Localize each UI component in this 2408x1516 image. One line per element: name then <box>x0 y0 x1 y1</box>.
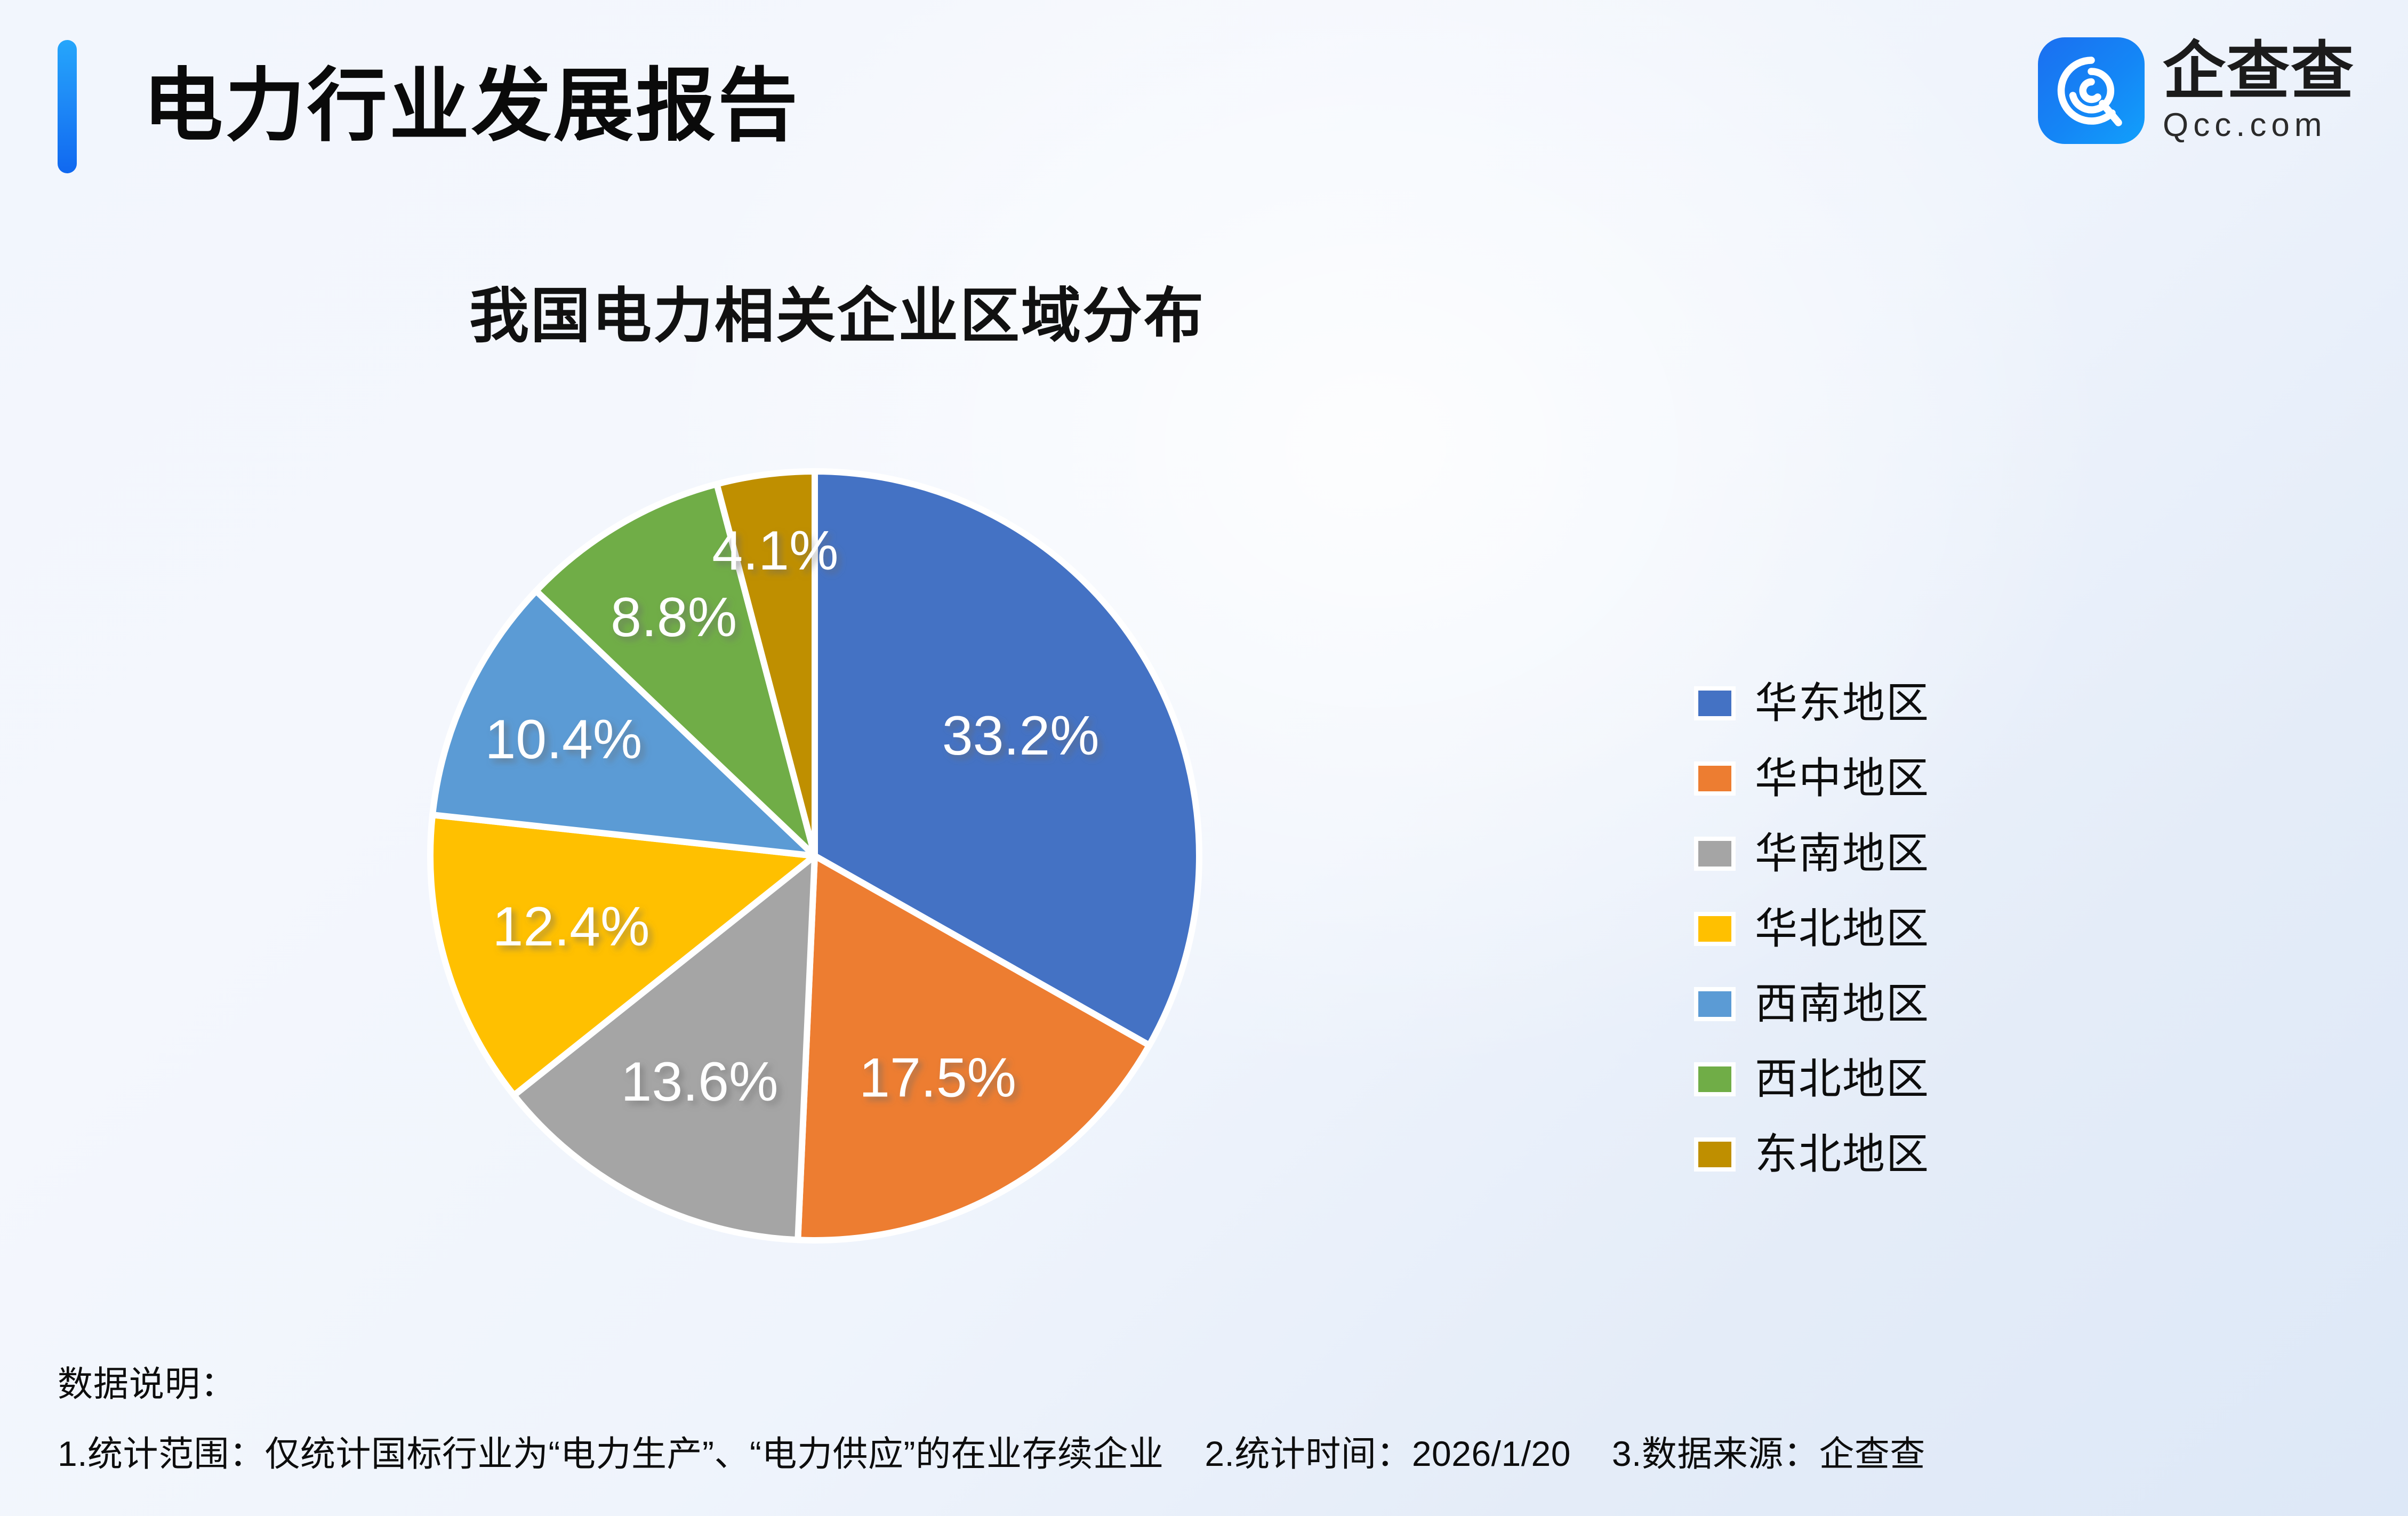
pie-slices <box>430 471 1199 1240</box>
note-item-1: 1.统计范围：仅统计国标行业为“电力生产”、“电力供应”的在业存续企业 <box>58 1434 1163 1473</box>
pie-slice-label: 12.4% <box>493 896 650 958</box>
title-accent-bar <box>58 40 77 173</box>
note-item-3: 3.数据来源：企查查 <box>1612 1434 1925 1473</box>
legend-item[interactable]: 华南地区 <box>1698 816 1930 891</box>
pie-slice-label: 33.2% <box>942 705 1099 767</box>
legend-label: 东北地区 <box>1755 1131 1930 1178</box>
chart-legend: 华东地区华中地区华南地区华北地区西南地区西北地区东北地区 <box>1698 665 1930 1192</box>
pie-slice-label: 17.5% <box>859 1047 1016 1109</box>
legend-label: 华北地区 <box>1755 905 1930 952</box>
legend-item[interactable]: 华北地区 <box>1698 891 1930 966</box>
legend-item[interactable]: 西南地区 <box>1698 966 1930 1041</box>
page-title: 电力行业发展报告 <box>143 47 800 164</box>
legend-swatch-icon <box>1698 841 1731 867</box>
note-item-2: 2.统计时间：2026/1/20 <box>1205 1434 1571 1473</box>
notes-line: 1.统计范围：仅统计国标行业为“电力生产”、“电力供应”的在业存续企业 2.统计… <box>58 1432 2350 1475</box>
legend-swatch-icon <box>1698 766 1731 791</box>
legend-swatch-icon <box>1698 991 1731 1017</box>
legend-label: 西北地区 <box>1755 1056 1930 1103</box>
pie-slice-label: 13.6% <box>621 1051 778 1113</box>
pie-slice-label: 10.4% <box>485 709 642 771</box>
legend-swatch-icon <box>1698 1066 1731 1092</box>
notes-heading: 数据说明： <box>58 1363 2350 1405</box>
legend-label: 华东地区 <box>1755 680 1930 727</box>
pie-chart: 33.2%17.5%13.6%12.4%10.4%8.8%4.1% <box>424 465 1206 1247</box>
pie-slice-label: 8.8% <box>611 587 737 648</box>
legend-label: 西南地区 <box>1755 981 1930 1028</box>
legend-item[interactable]: 华东地区 <box>1698 665 1930 741</box>
pie-slice-label: 4.1% <box>712 520 838 582</box>
report-page: 电力行业发展报告 企查查 Qcc.com 我国电力相关企业区域分布 <box>0 0 2408 1516</box>
brand-domain: Qcc.com <box>2163 107 2355 144</box>
legend-item[interactable]: 华中地区 <box>1698 741 1930 816</box>
qcc-q-spiral-logo-icon <box>2038 37 2145 144</box>
legend-swatch-icon <box>1698 691 1731 716</box>
brand-logo: 企查查 Qcc.com <box>2038 37 2355 144</box>
legend-label: 华南地区 <box>1755 830 1930 877</box>
legend-item[interactable]: 西北地区 <box>1698 1041 1930 1117</box>
pie-chart-svg: 33.2%17.5%13.6%12.4%10.4%8.8%4.1% <box>424 465 1206 1247</box>
legend-label: 华中地区 <box>1755 755 1930 802</box>
page-header: 电力行业发展报告 企查查 Qcc.com <box>0 0 2408 213</box>
brand-text: 企查查 Qcc.com <box>2163 37 2355 144</box>
brand-name: 企查查 <box>2163 37 2355 106</box>
legend-swatch-icon <box>1698 1142 1731 1167</box>
data-notes: 数据说明： 1.统计范围：仅统计国标行业为“电力生产”、“电力供应”的在业存续企… <box>58 1363 2350 1475</box>
legend-item[interactable]: 东北地区 <box>1698 1117 1930 1192</box>
legend-swatch-icon <box>1698 916 1731 942</box>
chart-title: 我国电力相关企业区域分布 <box>0 282 1674 351</box>
